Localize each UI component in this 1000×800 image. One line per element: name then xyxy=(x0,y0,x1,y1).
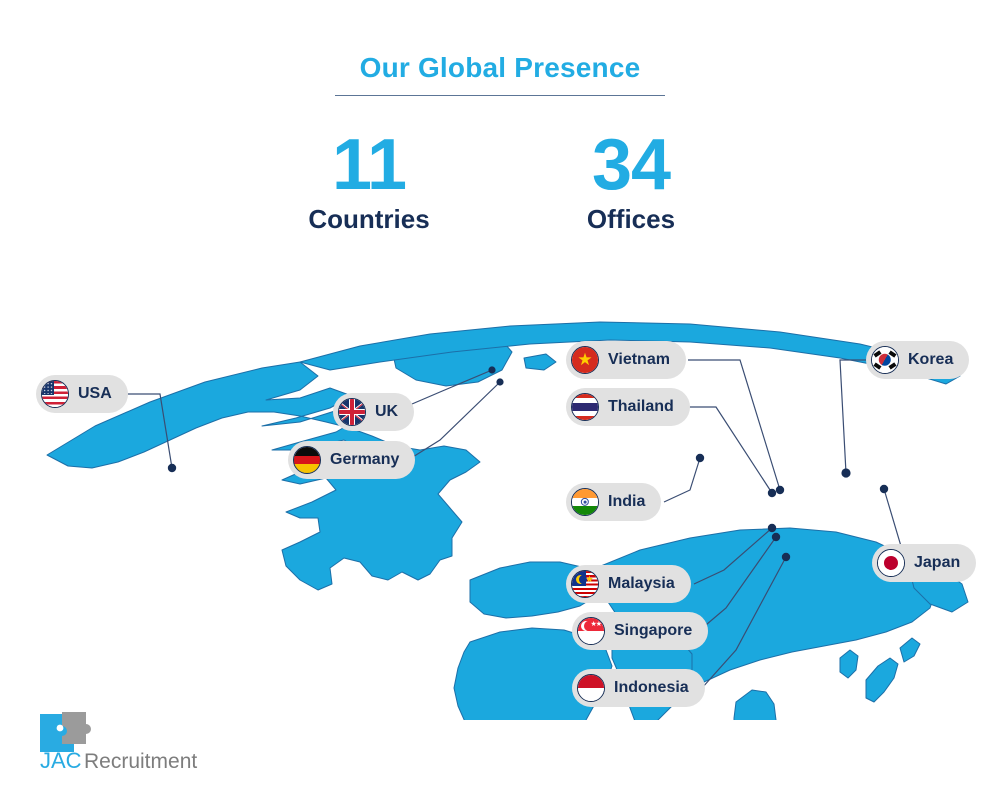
pill-india[interactable]: India xyxy=(566,483,661,521)
flag-thailand-icon xyxy=(571,393,599,421)
pill-singapore[interactable]: ★★★ Singapore xyxy=(572,612,708,650)
puzzle-piece-icon xyxy=(40,712,91,752)
flag-japan-icon xyxy=(877,549,905,577)
pill-indonesia[interactable]: Indonesia xyxy=(572,669,705,707)
logo-recruitment: Recruitment xyxy=(84,750,197,772)
jac-recruitment-logo: JAC Recruitment xyxy=(38,710,258,772)
logo-jac: JAC xyxy=(40,748,82,772)
pill-germany-label: Germany xyxy=(330,452,399,468)
stat-countries: 11 Countries xyxy=(284,128,454,235)
pill-uk-label: UK xyxy=(375,404,398,420)
flag-usa-icon xyxy=(41,380,69,408)
pill-thailand-label: Thailand xyxy=(608,399,674,415)
pill-thailand[interactable]: Thailand xyxy=(566,388,690,426)
flag-korea-icon xyxy=(871,346,899,374)
stat-offices-label: Offices xyxy=(546,204,716,235)
pill-usa-label: USA xyxy=(78,386,112,402)
flag-vietnam-icon: ★ xyxy=(571,346,599,374)
page-title: Our Global Presence xyxy=(0,52,1000,84)
pill-singapore-label: Singapore xyxy=(614,623,692,639)
pill-japan[interactable]: Japan xyxy=(872,544,976,582)
flag-india-icon xyxy=(571,488,599,516)
infographic-canvas: Our Global Presence 11 Countries 34 Offi… xyxy=(0,0,1000,800)
pill-india-label: India xyxy=(608,494,645,510)
pill-malaysia-label: Malaysia xyxy=(608,576,675,592)
pill-korea-label: Korea xyxy=(908,352,953,368)
pill-usa[interactable]: USA xyxy=(36,375,128,413)
pill-korea[interactable]: Korea xyxy=(866,341,969,379)
pill-malaysia[interactable]: ★ Malaysia xyxy=(566,565,691,603)
stats-row: 11 Countries 34 Offices xyxy=(0,128,1000,235)
flag-germany-icon xyxy=(293,446,321,474)
flag-singapore-icon: ★★★ xyxy=(577,617,605,645)
flag-uk-icon xyxy=(338,398,366,426)
flag-malaysia-icon: ★ xyxy=(571,570,599,598)
flag-indonesia-icon xyxy=(577,674,605,702)
stat-offices: 34 Offices xyxy=(546,128,716,235)
pill-japan-label: Japan xyxy=(914,555,960,571)
pill-germany[interactable]: Germany xyxy=(288,441,415,479)
pill-vietnam[interactable]: ★ Vietnam xyxy=(566,341,686,379)
world-map xyxy=(0,250,1000,720)
pill-indonesia-label: Indonesia xyxy=(614,680,689,696)
title-divider xyxy=(335,95,665,96)
stat-offices-value: 34 xyxy=(546,128,716,202)
stat-countries-value: 11 xyxy=(284,128,454,202)
pill-uk[interactable]: UK xyxy=(333,393,414,431)
stat-countries-label: Countries xyxy=(284,204,454,235)
pill-vietnam-label: Vietnam xyxy=(608,352,670,368)
